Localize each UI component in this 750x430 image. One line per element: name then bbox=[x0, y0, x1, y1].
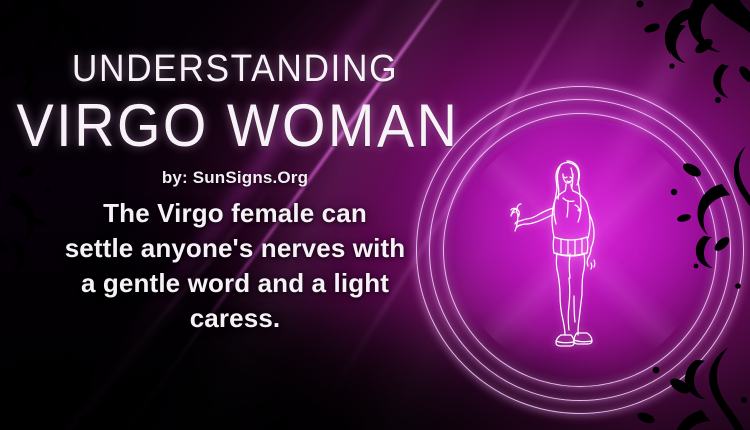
headline-triangle-a: A bbox=[377, 94, 417, 160]
quote-line-3: a gentle word and a light bbox=[25, 266, 445, 301]
virgo-woman-banner: UNDERSTANDING VIRGO WOMAN by: SunSigns.O… bbox=[0, 0, 750, 430]
virgo-woman-figure bbox=[505, 150, 635, 360]
headline-virgo-woman: VIRGO WOMAN bbox=[16, 93, 453, 159]
byline-sunsigns: by: SunSigns.Org bbox=[0, 168, 470, 188]
quote-line-4: caress. bbox=[25, 301, 445, 336]
headline-virgo-woman-part1: VIRGO WOM bbox=[16, 92, 376, 159]
quote-text: The Virgo female can settle anyone's ner… bbox=[25, 196, 445, 336]
quote-line-1: The Virgo female can bbox=[25, 196, 445, 231]
quote-line-2: settle anyone's nerves with bbox=[25, 231, 445, 266]
headline-virgo-woman-part2: N bbox=[417, 92, 460, 159]
headline-understanding: UNDERSTANDING bbox=[16, 48, 453, 90]
